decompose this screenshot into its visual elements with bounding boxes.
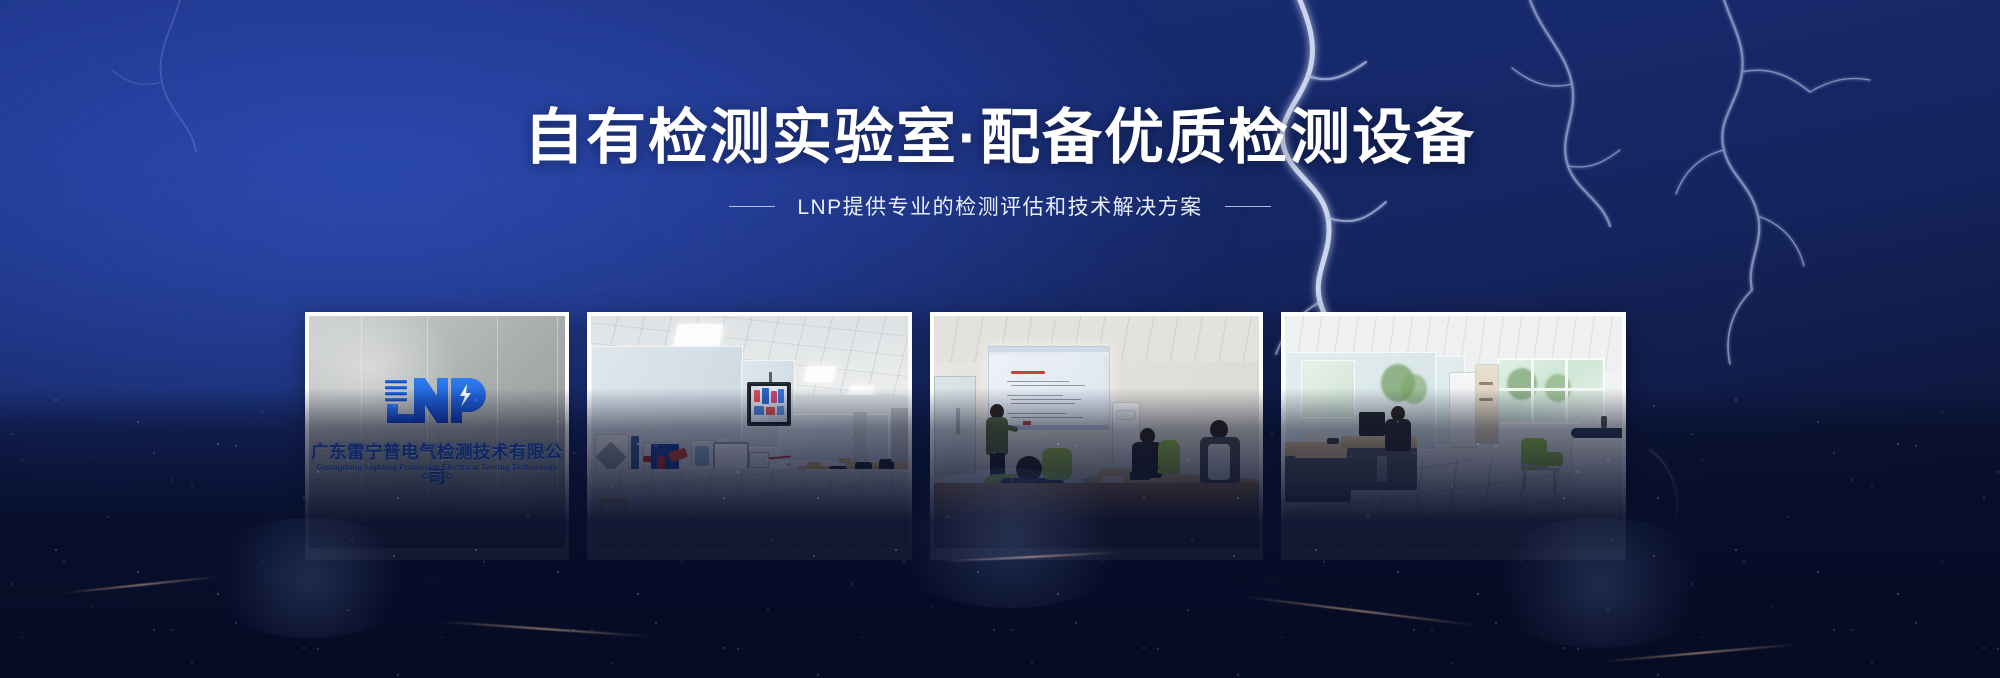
- hero-banner: 自有检测实验室·配备优质检测设备 LNP提供专业的检测评估和技术解决方案: [0, 0, 2000, 678]
- subtitle-row: LNP提供专业的检测评估和技术解决方案: [0, 191, 2000, 221]
- rule-right: [1225, 206, 1271, 207]
- page-subtitle: LNP提供专业的检测评估和技术解决方案: [797, 191, 1202, 221]
- page-title: 自有检测实验室·配备优质检测设备: [0, 104, 2000, 171]
- hero-text-block: 自有检测实验室·配备优质检测设备 LNP提供专业的检测评估和技术解决方案: [0, 104, 2000, 221]
- aerial-city-lights: [0, 388, 2000, 678]
- rule-left: [729, 206, 775, 207]
